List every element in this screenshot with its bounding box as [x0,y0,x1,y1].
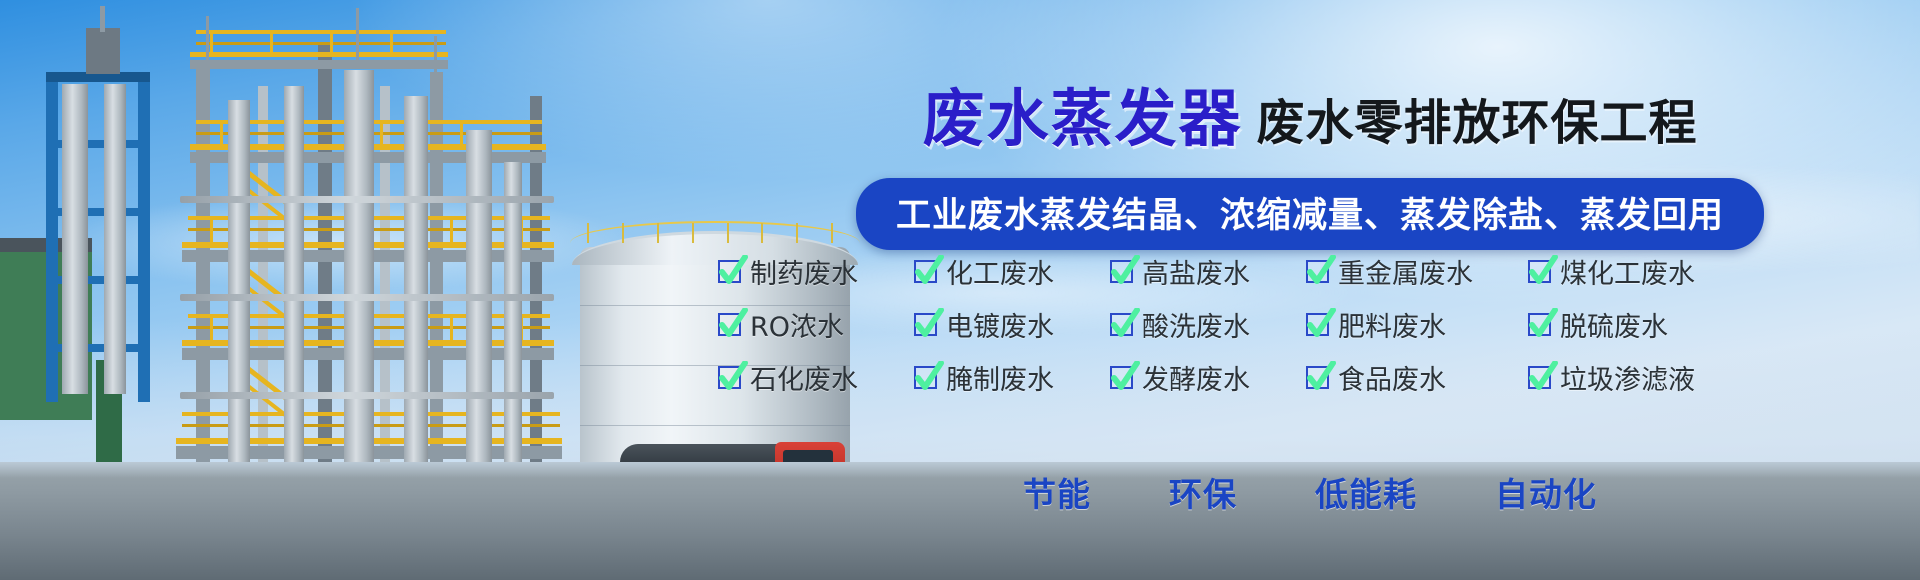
checklist-label: RO浓水 [750,305,844,344]
checklist-item[interactable]: 食品废水 [1306,358,1528,397]
checklist-item[interactable]: 腌制废水 [914,358,1110,397]
banner-content: 废水蒸发器 废水零排放环保工程 工业废水蒸发结晶、浓缩减量、蒸发除盐、蒸发回用 … [700,0,1920,580]
checklist-label: 化工废水 [946,252,1054,291]
checkbox-checked-icon[interactable] [718,260,741,283]
checklist-item[interactable]: 脱硫废水 [1528,305,1668,344]
checklist-item[interactable]: 肥料废水 [1306,305,1528,344]
checklist-label: 酸洗废水 [1142,305,1250,344]
slogan-pill: 工业废水蒸发结晶、浓缩减量、蒸发除盐、蒸发回用 [856,178,1764,250]
checkbox-checked-icon[interactable] [1528,366,1551,389]
checklist-row: RO浓水 电镀废水 酸洗废水 [718,305,1918,344]
checkbox-checked-icon[interactable] [1110,260,1133,283]
checklist-label: 垃圾渗滤液 [1560,358,1695,397]
feature-keywords: 节能 环保 低能耗 自动化 [700,468,1920,516]
checklist-item[interactable]: 石化废水 [718,358,914,397]
checklist-item[interactable]: 电镀废水 [914,305,1110,344]
keyword-item: 自动化 [1495,468,1597,516]
checkbox-checked-icon[interactable] [718,313,741,336]
checklist-label: 腌制废水 [946,358,1054,397]
wastewater-evaporator-banner: 废水蒸发器 废水零排放环保工程 工业废水蒸发结晶、浓缩减量、蒸发除盐、蒸发回用 … [0,0,1920,580]
checklist-label: 石化废水 [750,358,858,397]
checkbox-checked-icon[interactable] [1306,260,1329,283]
checkbox-checked-icon[interactable] [718,366,741,389]
checkbox-checked-icon[interactable] [1110,313,1133,336]
checklist-item[interactable]: 制药废水 [718,252,914,291]
checklist-label: 高盐废水 [1142,252,1250,291]
page-subtitle: 废水零排放环保工程 [1257,99,1698,150]
keyword-item: 环保 [1169,468,1237,516]
checkbox-checked-icon[interactable] [914,313,937,336]
checkbox-checked-icon[interactable] [1110,366,1133,389]
checklist-label: 食品废水 [1338,358,1446,397]
checklist-label: 制药废水 [750,252,858,291]
checklist-label: 肥料废水 [1338,305,1446,344]
checklist-item[interactable]: 垃圾渗滤液 [1528,358,1695,397]
checklist-label: 重金属废水 [1338,252,1473,291]
checklist-item[interactable]: 化工废水 [914,252,1110,291]
checkbox-checked-icon[interactable] [1528,260,1551,283]
checklist-item[interactable]: 酸洗废水 [1110,305,1306,344]
checklist-row: 石化废水 腌制废水 发酵废水 [718,358,1918,397]
checkbox-checked-icon[interactable] [1306,313,1329,336]
slogan-pill-wrapper: 工业废水蒸发结晶、浓缩减量、蒸发除盐、蒸发回用 [700,178,1920,250]
checkbox-checked-icon[interactable] [914,260,937,283]
checklist-item[interactable]: 高盐废水 [1110,252,1306,291]
checklist-label: 发酵废水 [1142,358,1250,397]
checklist-item[interactable]: 煤化工废水 [1528,252,1695,291]
checklist-label: 煤化工废水 [1560,252,1695,291]
checklist-item[interactable]: 发酵废水 [1110,358,1306,397]
checklist-label: 脱硫废水 [1560,305,1668,344]
checkbox-checked-icon[interactable] [1306,366,1329,389]
checkbox-checked-icon[interactable] [1528,313,1551,336]
checklist-label: 电镀废水 [946,305,1054,344]
checklist-item[interactable]: RO浓水 [718,305,914,344]
keyword-item: 节能 [1023,468,1091,516]
checklist-row: 制药废水 化工废水 高盐废水 [718,252,1918,291]
headline-row: 废水蒸发器 废水零排放环保工程 [700,88,1920,150]
keyword-item: 低能耗 [1315,468,1417,516]
checklist-item[interactable]: 重金属废水 [1306,252,1528,291]
application-checklist: 制药废水 化工废水 高盐废水 [718,252,1918,411]
checkbox-checked-icon[interactable] [914,366,937,389]
page-title: 废水蒸发器 [922,88,1242,150]
